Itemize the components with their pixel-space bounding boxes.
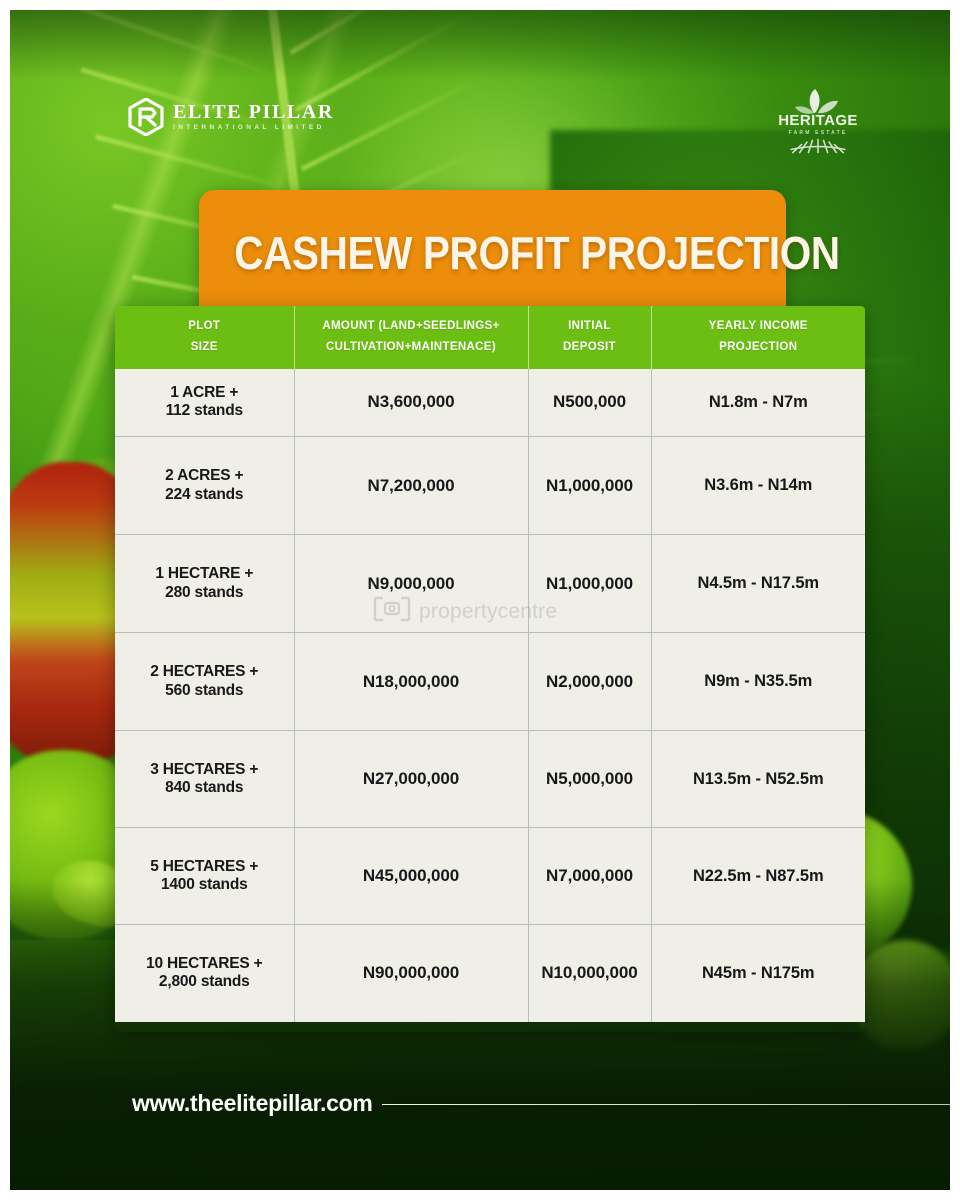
plot-line-1: 10 HECTARES +	[146, 955, 262, 972]
cell-plot-size: 5 HECTARES +1400 stands	[115, 828, 294, 925]
cell-income: N9m - N35.5m	[651, 633, 865, 731]
website-url[interactable]: www.theelitepillar.com	[132, 1090, 373, 1117]
header-line-2: CULTIVATION+MAINTENACE)	[326, 341, 496, 353]
column-header-amount: AMOUNT (LAND+SEEDLINGS+ CULTIVATION+MAIN…	[294, 306, 528, 369]
poster-canvas: ELITE PILLAR INTERNATIONAL LIMITED HERIT…	[0, 0, 960, 1200]
cell-amount: N3,600,000	[294, 369, 528, 437]
cell-deposit: N1,000,000	[528, 437, 651, 535]
cell-income: N1.8m - N7m	[651, 369, 865, 437]
table-row: 10 HECTARES +2,800 stands N90,000,000 N1…	[115, 925, 865, 1022]
header-line-1: AMOUNT (LAND+SEEDLINGS+	[322, 320, 499, 332]
cell-income: N4.5m - N17.5m	[651, 535, 865, 633]
plot-line-2: 280 stands	[120, 584, 289, 602]
plot-line-2: 2,800 stands	[120, 973, 289, 991]
plot-line-2: 840 stands	[120, 779, 289, 797]
heritage-name: HERITAGE	[778, 112, 858, 129]
cell-income: N22.5m - N87.5m	[651, 828, 865, 925]
brand-name: ELITE PILLAR	[173, 102, 334, 122]
cell-deposit: N500,000	[528, 369, 651, 437]
table-row: 1 HECTARE +280 stands N9,000,000 N1,000,…	[115, 535, 865, 633]
plot-line-1: 2 ACRES +	[165, 467, 243, 484]
artboard: ELITE PILLAR INTERNATIONAL LIMITED HERIT…	[10, 10, 950, 1190]
cell-plot-size: 3 HECTARES +840 stands	[115, 731, 294, 828]
cell-amount: N90,000,000	[294, 925, 528, 1022]
cell-plot-size: 2 ACRES +224 stands	[115, 437, 294, 535]
elite-pillar-logo: ELITE PILLAR INTERNATIONAL LIMITED	[128, 98, 334, 136]
cell-deposit: N2,000,000	[528, 633, 651, 731]
plot-line-1: 1 HECTARE +	[155, 565, 253, 582]
heritage-logo: HERITAGE FARM ESTATE	[770, 88, 866, 162]
header-line-1: PLOT	[188, 320, 220, 332]
cell-plot-size: 2 HECTARES +560 stands	[115, 633, 294, 731]
header-line-1: INITIAL	[568, 320, 611, 332]
cell-plot-size: 10 HECTARES +2,800 stands	[115, 925, 294, 1022]
plot-line-1: 1 ACRE +	[170, 384, 238, 401]
title-banner: CASHEW PROFIT PROJECTION	[199, 190, 786, 312]
cell-amount: N18,000,000	[294, 633, 528, 731]
profit-projection-table: PLOT SIZE AMOUNT (LAND+SEEDLINGS+ CULTIV…	[115, 306, 865, 1032]
cell-income: N13.5m - N52.5m	[651, 731, 865, 828]
cell-deposit: N10,000,000	[528, 925, 651, 1022]
cell-deposit: N5,000,000	[528, 731, 651, 828]
table-header-row: PLOT SIZE AMOUNT (LAND+SEEDLINGS+ CULTIV…	[115, 306, 865, 369]
top-vignette	[10, 10, 950, 80]
footer-divider	[382, 1104, 950, 1105]
table-row: 3 HECTARES +840 stands N27,000,000 N5,00…	[115, 731, 865, 828]
column-header-yearly-income: YEARLY INCOME PROJECTION	[651, 306, 865, 369]
plot-line-1: 3 HECTARES +	[150, 761, 258, 778]
cell-plot-size: 1 HECTARE +280 stands	[115, 535, 294, 633]
cell-income: N3.6m - N14m	[651, 437, 865, 535]
plot-line-1: 2 HECTARES +	[150, 663, 258, 680]
plot-line-2: 1400 stands	[120, 876, 289, 894]
cell-plot-size: 1 ACRE +112 stands	[115, 369, 294, 437]
header-line-2: SIZE	[191, 341, 218, 353]
heritage-field-icon	[783, 138, 853, 159]
table-row: 5 HECTARES +1400 stands N45,000,000 N7,0…	[115, 828, 865, 925]
cell-amount: N45,000,000	[294, 828, 528, 925]
page-title: CASHEW PROFIT PROJECTION	[234, 226, 751, 280]
plot-line-2: 224 stands	[120, 486, 289, 504]
cell-deposit: N7,000,000	[528, 828, 651, 925]
cell-amount: N7,200,000	[294, 437, 528, 535]
cell-income: N45m - N175m	[651, 925, 865, 1022]
table-row: 2 HECTARES +560 stands N18,000,000 N2,00…	[115, 633, 865, 731]
plot-line-2: 112 stands	[120, 402, 289, 420]
elite-pillar-hexagon-icon	[128, 98, 164, 136]
plot-line-1: 5 HECTARES +	[150, 858, 258, 875]
header-line-2: PROJECTION	[719, 341, 797, 353]
column-header-initial-deposit: INITIAL DEPOSIT	[528, 306, 651, 369]
column-header-plot-size: PLOT SIZE	[115, 306, 294, 369]
header-line-1: YEARLY INCOME	[709, 320, 808, 332]
plot-line-2: 560 stands	[120, 682, 289, 700]
cell-deposit: N1,000,000	[528, 535, 651, 633]
heritage-tagline: FARM ESTATE	[789, 130, 848, 136]
brand-tagline: INTERNATIONAL LIMITED	[173, 125, 334, 132]
header-line-2: DEPOSIT	[563, 341, 616, 353]
heritage-leaf-icon	[788, 88, 848, 114]
cell-amount: N9,000,000	[294, 535, 528, 633]
table-row: 1 ACRE +112 stands N3,600,000 N500,000 N…	[115, 369, 865, 437]
table-row: 2 ACRES +224 stands N7,200,000 N1,000,00…	[115, 437, 865, 535]
elite-pillar-wordmark: ELITE PILLAR INTERNATIONAL LIMITED	[173, 102, 334, 132]
cell-amount: N27,000,000	[294, 731, 528, 828]
